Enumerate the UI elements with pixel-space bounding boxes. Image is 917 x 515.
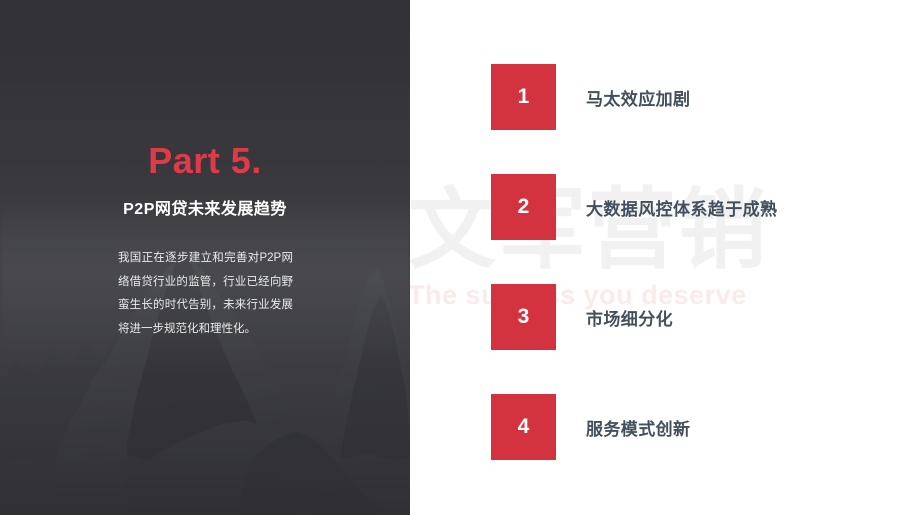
trend-number-badge: 2: [491, 174, 556, 240]
trend-item-4[interactable]: 4 服务模式创新: [491, 394, 911, 460]
trend-number-badge: 1: [491, 64, 556, 130]
section-body-text: 我国正在逐步建立和完善对P2P网络借贷行业的监管，行业已经向野蛮生长的时代告别，…: [118, 247, 293, 341]
trend-label: 大数据风控体系趋于成熟: [586, 195, 777, 220]
trend-label: 市场细分化: [586, 305, 673, 330]
trend-item-3[interactable]: 3 市场细分化: [491, 284, 911, 350]
right-content-panel: 文军营销 The success you deserve 1 马太效应加剧 2 …: [410, 0, 917, 515]
part-number-label: Part 5.: [0, 143, 410, 179]
left-text-block: Part 5. P2P网贷未来发展趋势 我国正在逐步建立和完善对P2P网络借贷行…: [0, 0, 410, 515]
trend-number-badge: 4: [491, 394, 556, 460]
trend-label: 服务模式创新: [586, 415, 690, 440]
presentation-slide: Part 5. P2P网贷未来发展趋势 我国正在逐步建立和完善对P2P网络借贷行…: [0, 0, 917, 515]
trend-item-2[interactable]: 2 大数据风控体系趋于成熟: [491, 174, 911, 240]
trend-item-1[interactable]: 1 马太效应加剧: [491, 64, 911, 130]
section-title: P2P网贷未来发展趋势: [0, 200, 410, 221]
trend-list: 1 马太效应加剧 2 大数据风控体系趋于成熟 3 市场细分化 4 服务模式创新: [410, 0, 917, 515]
trend-number-badge: 3: [491, 284, 556, 350]
trend-label: 马太效应加剧: [586, 85, 690, 110]
